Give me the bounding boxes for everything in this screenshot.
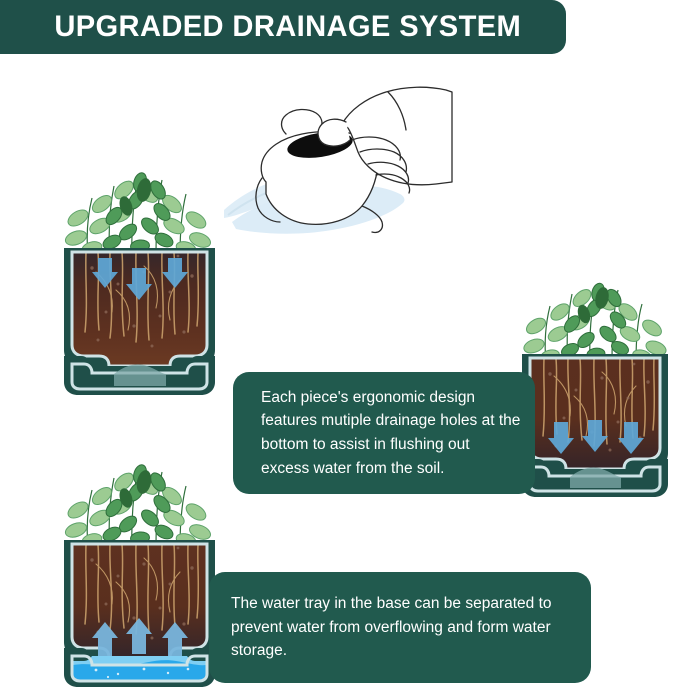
plant-foliage-icon — [63, 463, 212, 548]
stored-water-icon — [73, 656, 206, 680]
page-title: UPGRADED DRAINAGE SYSTEM — [0, 10, 521, 44]
infographic-canvas: UPGRADED DRAINAGE SYSTEM — [0, 0, 679, 690]
hand-watering-can-illustration — [222, 82, 452, 272]
callout-drainage-holes-text: Each piece's ergonomic design features m… — [233, 386, 535, 480]
illustration-pot-top-left — [52, 160, 227, 400]
pot-body-icon — [64, 248, 215, 376]
illustration-pot-bottom-left — [52, 452, 227, 690]
pot-body-icon — [522, 354, 668, 479]
header-banner: UPGRADED DRAINAGE SYSTEM — [0, 0, 566, 54]
plant-foliage-icon — [522, 282, 668, 365]
callout-water-tray-text: The water tray in the base can be separa… — [209, 592, 591, 663]
arrow-down-icon — [548, 420, 644, 454]
callout-water-tray: The water tray in the base can be separa… — [209, 572, 591, 683]
plant-foliage-icon — [63, 171, 212, 256]
illustration-pot-mid-right — [512, 272, 679, 502]
callout-drainage-holes: Each piece's ergonomic design features m… — [233, 372, 535, 494]
